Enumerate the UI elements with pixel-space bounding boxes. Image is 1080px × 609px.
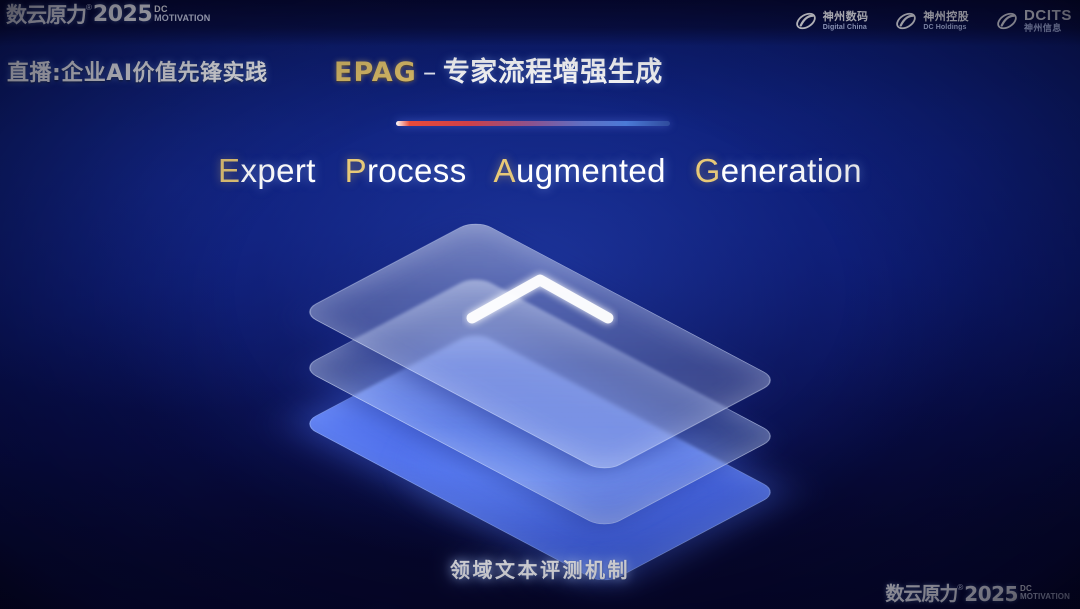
corp-logo-cn: 神州控股 (923, 11, 969, 22)
title-dash: – (423, 57, 437, 88)
subtitle-cap: E (218, 152, 240, 189)
watermark-motivation: MOTIVATION (1020, 593, 1070, 601)
title-chinese: 专家流程增强生成 (443, 57, 663, 88)
subtitle-rest: eneration (721, 152, 862, 189)
subtitle-word-process: Process (345, 152, 467, 189)
title-acronym: EPAG (334, 57, 417, 88)
footer-watermark-logo: 数云原力 ® 2025 DC MOTIVATION (885, 583, 1070, 605)
brand-logo-dc-motivation: DC MOTIVATION (154, 3, 210, 23)
subtitle-word-generation: Generation (695, 152, 862, 189)
stack-layer-top (325, 222, 755, 470)
watermark-cn: 数云原力 (885, 583, 957, 605)
subtitle-rest: rocess (367, 152, 467, 189)
corp-logo-dcits: DCITS 神州信息 (995, 8, 1072, 34)
subtitle-space (676, 152, 686, 189)
subtitle-space (325, 152, 335, 189)
brand-logo-cn: 数云原力 (6, 3, 86, 27)
watermark-year: 2025 (964, 583, 1018, 605)
subtitle-word-expert: Expert (218, 152, 316, 189)
subtitle-word-augmented: Augmented (494, 152, 666, 189)
title-divider-rule (396, 121, 670, 126)
subtitle-cap: G (695, 152, 721, 189)
swirl-icon (794, 9, 818, 33)
subtitle-cap: A (494, 152, 516, 189)
corp-logo-en: Digital China (823, 24, 869, 31)
corp-logo-digital-china: 神州数码 Digital China (794, 9, 869, 33)
watermark-dc-motivation: DC MOTIVATION (1020, 583, 1070, 601)
corp-logo-cn: 神州数码 (823, 11, 869, 22)
corp-logo-text: DCITS 神州信息 (1024, 8, 1072, 34)
subtitle: Expert Process Augmented Generation (0, 150, 1080, 192)
corporate-logos: 神州数码 Digital China 神州控股 DC Holdings (794, 8, 1072, 34)
live-stream-title: 直播:企业AI价值先锋实践 (7, 55, 268, 87)
subtitle-rest: ugmented (516, 152, 666, 189)
chevron-up-icon (462, 266, 618, 332)
swirl-icon (995, 9, 1019, 33)
corp-logo-text: 神州数码 Digital China (823, 11, 869, 31)
corp-logo-dc-holdings: 神州控股 DC Holdings (894, 9, 969, 33)
stack-layer-top-face (300, 219, 779, 473)
subtitle-cap: P (345, 152, 367, 189)
brand-logo: 数云原力 ® 2025 DC MOTIVATION (6, 3, 210, 27)
corp-logo-en: 神州信息 (1024, 25, 1072, 34)
brand-logo-year: 2025 (93, 3, 152, 27)
slide-canvas: 数云原力 ® 2025 DC MOTIVATION 直播:企业AI价值先锋实践 … (0, 0, 1080, 609)
subtitle-rest: xpert (240, 152, 315, 189)
watermark-registered: ® (957, 583, 963, 592)
layered-stack-diagram: 领域文本评测机制 Dynamic MOE 长文本记忆 三类语义建模模块 (290, 222, 790, 584)
swirl-icon (894, 9, 918, 33)
brand-logo-registered: ® (86, 3, 92, 12)
page-title: EPAG–专家流程增强生成 (334, 56, 754, 92)
corp-logo-cn: DCITS (1024, 8, 1072, 23)
subtitle-space (476, 152, 486, 189)
corp-logo-en: DC Holdings (923, 24, 969, 31)
corp-logo-text: 神州控股 DC Holdings (923, 11, 969, 31)
brand-logo-motivation: MOTIVATION (154, 14, 210, 23)
